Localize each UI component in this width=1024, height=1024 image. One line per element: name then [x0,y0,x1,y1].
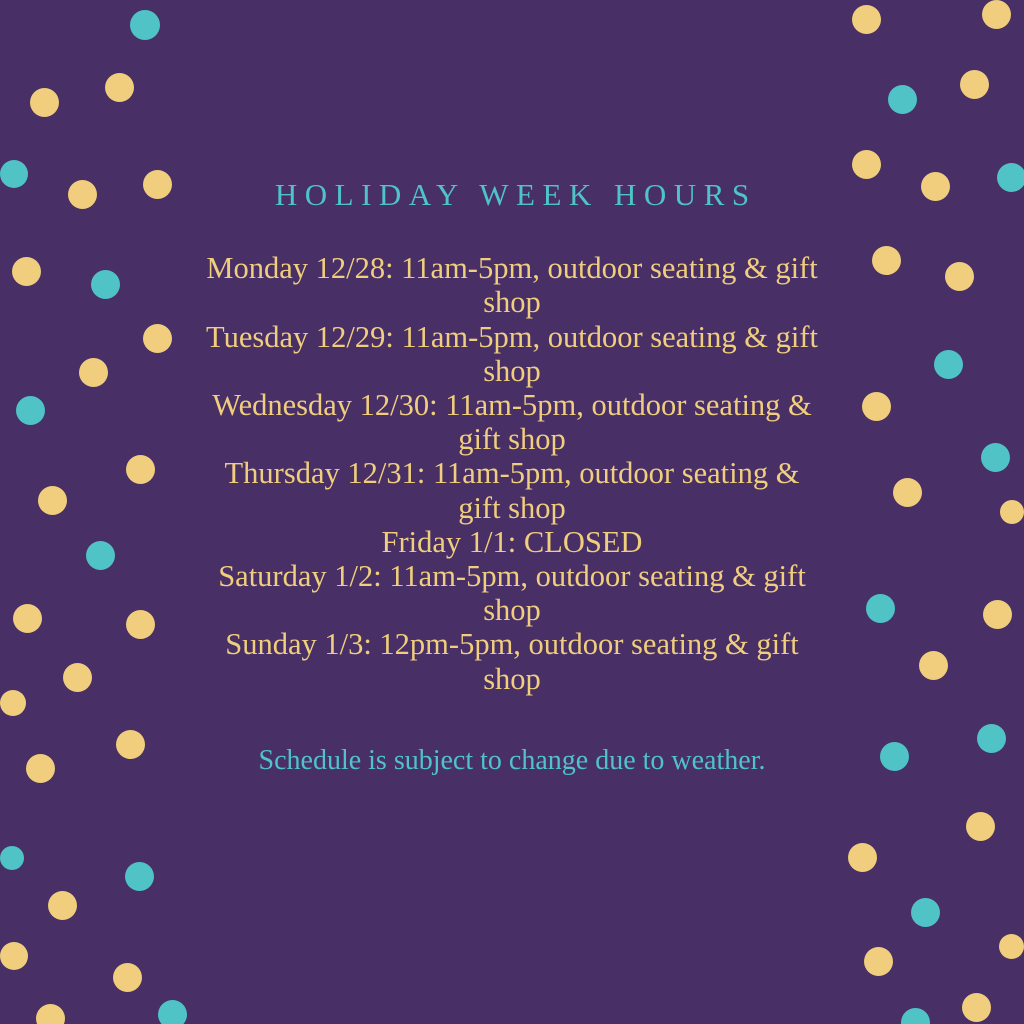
confetti-dot-gold [38,486,67,515]
confetti-dot-teal [125,862,154,891]
confetti-dot-teal [880,742,909,771]
confetti-dot-gold [63,663,92,692]
confetti-dot-teal [911,898,940,927]
page-title: HOLIDAY WEEK HOURS [202,176,822,213]
confetti-dot-gold [921,172,950,201]
confetti-dot-gold [852,5,881,34]
confetti-dot-teal [16,396,45,425]
confetti-dot-teal [977,724,1006,753]
confetti-dot-gold [143,324,172,353]
confetti-dot-gold [79,358,108,387]
confetti-dot-gold [143,170,172,199]
confetti-dot-teal [91,270,120,299]
confetti-dot-gold [105,73,134,102]
schedule-line: Friday 1/1: CLOSED [202,525,822,559]
confetti-dot-gold [893,478,922,507]
confetti-dot-gold [126,610,155,639]
confetti-dot-teal [0,160,28,188]
confetti-dot-gold [36,1004,65,1024]
confetti-dot-gold [1000,500,1024,524]
confetti-dot-teal [997,163,1024,192]
confetti-dot-gold [862,392,891,421]
confetti-dot-gold [68,180,97,209]
poster-content: HOLIDAY WEEK HOURS Monday 12/28: 11am-5p… [202,176,822,780]
confetti-dot-teal [888,85,917,114]
confetti-dot-gold [48,891,77,920]
confetti-dot-gold [872,246,901,275]
holiday-hours-poster: HOLIDAY WEEK HOURS Monday 12/28: 11am-5p… [0,0,1024,1024]
confetti-dot-teal [0,846,24,870]
confetti-dot-gold [983,600,1012,629]
confetti-dot-gold [945,262,974,291]
schedule-line: Wednesday 12/30: 11am-5pm, outdoor seati… [202,388,822,456]
confetti-dot-teal [981,443,1010,472]
schedule-line: Monday 12/28: 11am-5pm, outdoor seating … [202,251,822,319]
schedule-list: Monday 12/28: 11am-5pm, outdoor seating … [202,251,822,696]
schedule-line: Tuesday 12/29: 11am-5pm, outdoor seating… [202,320,822,388]
confetti-dot-teal [901,1008,930,1024]
confetti-dot-teal [158,1000,187,1024]
confetti-dot-gold [982,0,1011,29]
confetti-dot-gold [0,942,28,970]
confetti-dot-teal [86,541,115,570]
confetti-dot-teal [866,594,895,623]
confetti-dot-gold [962,993,991,1022]
confetti-dot-gold [13,604,42,633]
confetti-dot-gold [26,754,55,783]
confetti-dot-gold [848,843,877,872]
confetti-dot-teal [130,10,160,40]
confetti-dot-gold [919,651,948,680]
schedule-line: Saturday 1/2: 11am-5pm, outdoor seating … [202,559,822,627]
schedule-line: Sunday 1/3: 12pm-5pm, outdoor seating & … [202,627,822,695]
confetti-dot-gold [966,812,995,841]
confetti-dot-gold [12,257,41,286]
confetti-dot-gold [852,150,881,179]
confetti-dot-gold [30,88,59,117]
confetti-dot-teal [934,350,963,379]
schedule-line: Thursday 12/31: 11am-5pm, outdoor seatin… [202,456,822,524]
confetti-dot-gold [864,947,893,976]
confetti-dot-gold [960,70,989,99]
confetti-dot-gold [126,455,155,484]
confetti-dot-gold [116,730,145,759]
schedule-disclaimer: Schedule is subject to change due to wea… [202,741,822,780]
confetti-dot-gold [999,934,1024,959]
confetti-dot-gold [0,690,26,716]
confetti-dot-gold [113,963,142,992]
